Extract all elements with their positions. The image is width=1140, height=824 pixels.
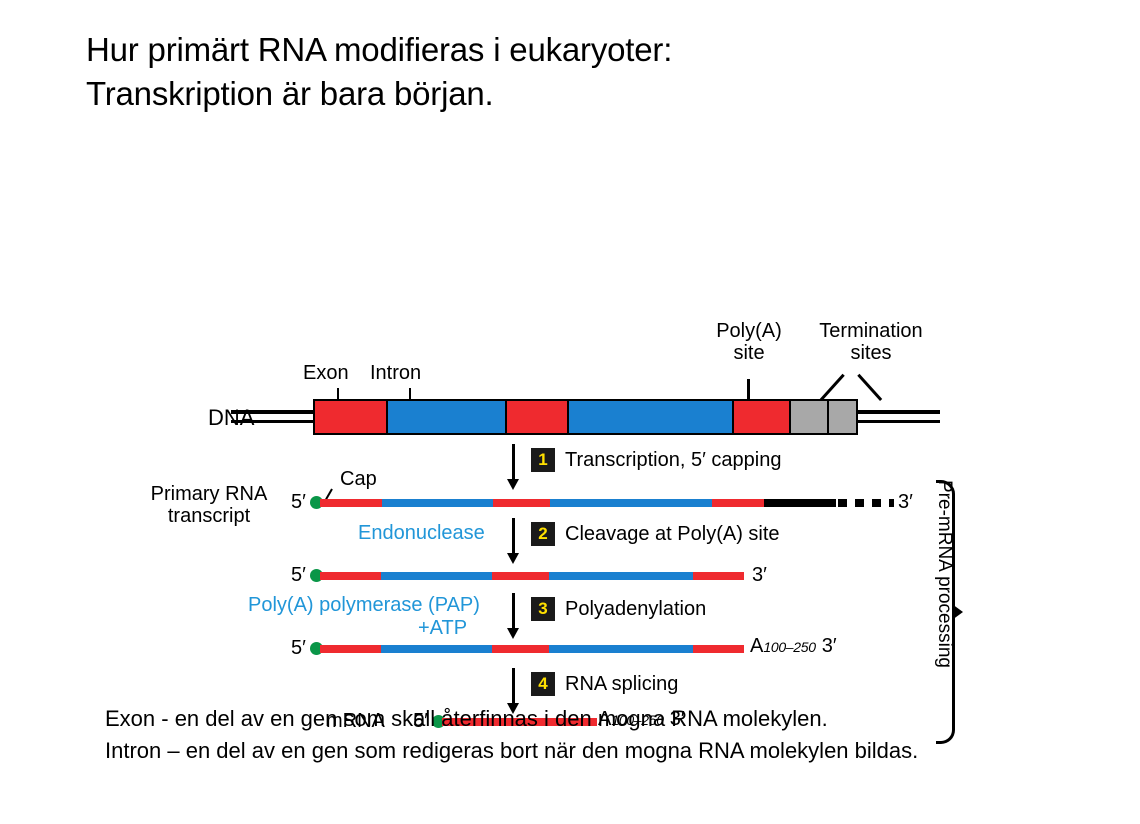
step-3-arrow (512, 593, 515, 629)
step-3-badge: 3 (531, 597, 555, 621)
row2-intron-1 (381, 572, 491, 580)
dna-terminator-1 (791, 401, 829, 433)
dna-exon-3 (734, 401, 791, 433)
polyadenylated-rna-strand (320, 645, 744, 653)
row3-exon-2 (492, 645, 549, 653)
exon-definition: Exon - en del av en gen som skall återfi… (105, 703, 1085, 735)
atp-label: +ATP (418, 617, 467, 639)
row3-exon-1 (320, 645, 381, 653)
exon-label: Exon (303, 362, 349, 384)
primary-rna-label: Primary RNA transcript (135, 483, 283, 528)
step-4-arrow (512, 668, 515, 704)
cap-label: Cap (340, 468, 377, 490)
rna-processing-diagram: Exon Intron Poly(A) site Termination sit… (0, 150, 1140, 620)
pre-mrna-processing-label: Pre-mRNA processing (697, 480, 955, 738)
step-4-badge: 4 (531, 672, 555, 696)
termination-sites-caret (823, 369, 879, 401)
row3-intron-2 (549, 645, 693, 653)
dna-exon-2 (507, 401, 569, 433)
step-2-badge: 2 (531, 522, 555, 546)
dna-intron-2 (569, 401, 734, 433)
page-title: Hur primärt RNA modifieras i eukaryoter:… (86, 28, 1046, 115)
step-1-label: Transcription, 5′ capping (565, 449, 781, 471)
dna-terminator-2 (829, 401, 856, 433)
row2-5prime: 5′ (291, 564, 306, 586)
step-1-badge: 1 (531, 448, 555, 472)
primary-rna-line1: Primary RNA (135, 483, 283, 505)
row1-exon-1 (320, 499, 382, 507)
termination-label-line1: Termination (800, 320, 942, 342)
intron-label: Intron (370, 362, 421, 384)
polya-site-arrow (747, 379, 750, 401)
dna-bar (313, 399, 858, 435)
polya-site-label-line2: site (700, 342, 798, 364)
primary-rna-line2: transcript (135, 505, 283, 527)
step-1-arrow (512, 444, 515, 480)
step-2-arrow (512, 518, 515, 554)
intron-definition: Intron – en del av en gen som redigeras … (105, 735, 1085, 767)
row2-exon-1 (320, 572, 381, 580)
cleaved-rna-strand (320, 572, 744, 580)
step-4-label: RNA splicing (565, 673, 678, 695)
polya-site-label-line1: Poly(A) (700, 320, 798, 342)
termination-label-line2: sites (800, 342, 942, 364)
row2-intron-2 (549, 572, 693, 580)
dna-exon-1 (315, 401, 388, 433)
termination-sites-label: Termination sites (800, 320, 942, 365)
row1-5prime: 5′ (291, 491, 306, 513)
row1-exon-2 (493, 499, 550, 507)
step-3-label: Polyadenylation (565, 598, 706, 620)
row1-intron-1 (382, 499, 493, 507)
endonuclease-label: Endonuclease (358, 522, 485, 544)
slide: Hur primärt RNA modifieras i eukaryoter:… (0, 0, 1140, 824)
row3-intron-1 (381, 645, 491, 653)
dna-intron-1 (388, 401, 507, 433)
definitions-caption: Exon - en del av en gen som skall återfi… (105, 703, 1085, 767)
row1-intron-2 (550, 499, 713, 507)
dna-right-flank (856, 410, 940, 423)
title-line-2: Transkription är bara början. (86, 72, 1046, 116)
row3-5prime: 5′ (291, 637, 306, 659)
row2-exon-2 (492, 572, 549, 580)
polya-site-label: Poly(A) site (700, 320, 798, 365)
dna-left-flank (231, 410, 315, 423)
title-line-1: Hur primärt RNA modifieras i eukaryoter: (86, 28, 1046, 72)
pap-label: Poly(A) polymerase (PAP) (248, 594, 480, 616)
